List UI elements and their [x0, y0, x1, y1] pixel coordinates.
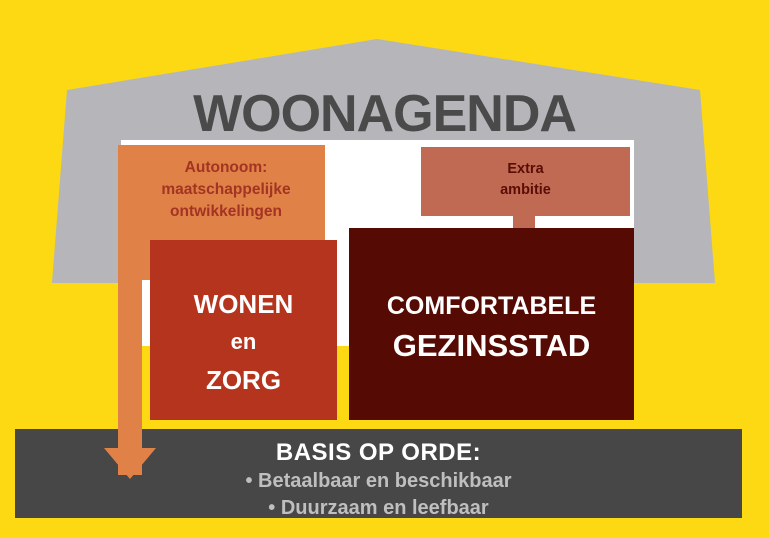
wonen-line-2: en: [150, 323, 337, 361]
page-title: WOONAGENDA: [193, 85, 576, 143]
basis-op-orde-bullet-2: • Duurzaam en leefbaar: [15, 495, 742, 522]
extra-ambitie-box: Extra ambitie: [421, 147, 630, 216]
wonen-line-3: ZORG: [150, 361, 337, 399]
extra-ambitie-line-1: Extra: [421, 159, 630, 180]
autonoom-to-basis-arrow-shaft: [118, 145, 142, 475]
extra-ambitie-line-2: ambitie: [421, 180, 630, 201]
woonagenda-infographic: WOONAGENDA Autonoom: maatschappelijke on…: [0, 0, 769, 538]
wonen-line-1: WONEN: [150, 285, 337, 323]
comfortabele-gezinsstad-box: COMFORTABELE GEZINSSTAD: [349, 228, 634, 420]
page-title-wrapper: WOONAGENDA: [0, 84, 769, 144]
wonen-en-zorg-box: WONEN en ZORG: [150, 240, 337, 420]
autonoom-to-basis-arrow-head-icon: [104, 448, 156, 479]
autonoom-line-1: Autonoom:: [127, 157, 325, 179]
gezinsstad-line-1: COMFORTABELE: [349, 286, 634, 326]
gezinsstad-line-2: GEZINSSTAD: [349, 326, 634, 366]
